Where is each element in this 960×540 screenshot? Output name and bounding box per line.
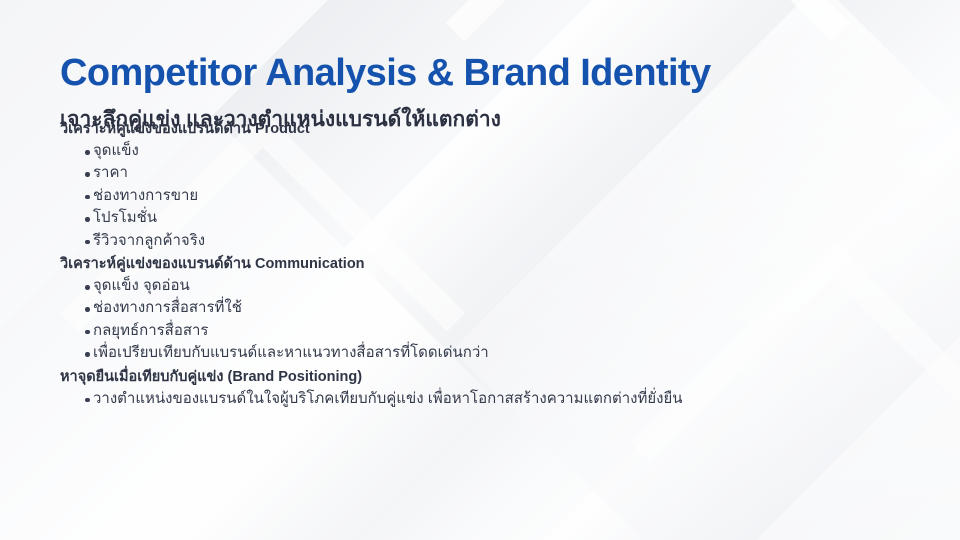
list-item: ราคา <box>60 162 900 184</box>
bullet-list: จุดแข็ง ราคา ช่องทางการขาย โปรโมชั่น รีว… <box>60 140 900 252</box>
list-item: เพื่อเปรียบเทียบกับแบรนด์และหาแนวทางสื่อ… <box>60 342 900 364</box>
list-item: ช่องทางการขาย <box>60 185 900 207</box>
section-heading: วิเคราะห์คู่แข่งของแบรนด์ด้าน Product <box>60 119 900 139</box>
section-product: วิเคราะห์คู่แข่งของแบรนด์ด้าน Product จุ… <box>60 119 900 252</box>
list-item: จุดแข็ง จุดอ่อน <box>60 275 900 297</box>
page-title: Competitor Analysis & Brand Identity <box>60 52 711 95</box>
section-heading: หาจุดยืนเมื่อเทียบกับคู่แข่ง (Brand Posi… <box>60 367 900 387</box>
list-item: โปรโมชั่น <box>60 207 900 229</box>
list-item: กลยุทธ์การสื่อสาร <box>60 320 900 342</box>
bullet-list: วางตำแหน่งของแบรนด์ในใจผู้บริโภคเทียบกับ… <box>60 388 900 410</box>
slide-canvas: Competitor Analysis & Brand Identity เจา… <box>0 0 960 540</box>
bullet-list: จุดแข็ง จุดอ่อน ช่องทางการสื่อสารที่ใช้ … <box>60 275 900 365</box>
list-item: จุดแข็ง <box>60 140 900 162</box>
content-body: วิเคราะห์คู่แข่งของแบรนด์ด้าน Product จุ… <box>60 119 900 412</box>
section-brand-positioning: หาจุดยืนเมื่อเทียบกับคู่แข่ง (Brand Posi… <box>60 367 900 410</box>
list-item: วางตำแหน่งของแบรนด์ในใจผู้บริโภคเทียบกับ… <box>60 388 900 410</box>
section-communication: วิเคราะห์คู่แข่งของแบรนด์ด้าน Communicat… <box>60 254 900 365</box>
list-item: ช่องทางการสื่อสารที่ใช้ <box>60 297 900 319</box>
section-heading: วิเคราะห์คู่แข่งของแบรนด์ด้าน Communicat… <box>60 254 900 274</box>
list-item: รีวิวจากลูกค้าจริง <box>60 230 900 252</box>
